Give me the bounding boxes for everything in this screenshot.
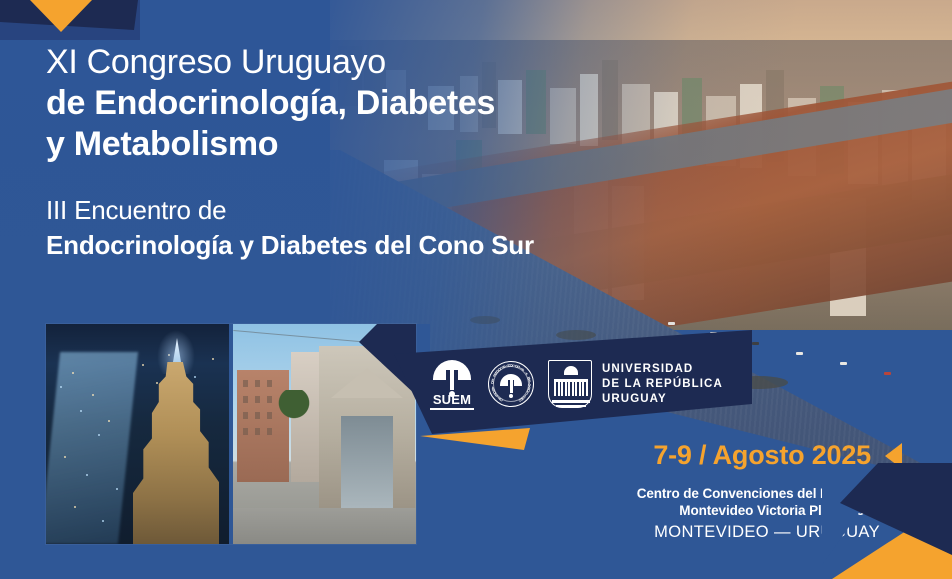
udelar-shield-icon <box>548 360 592 408</box>
shield-columns <box>554 382 588 396</box>
shield-base-lower <box>556 405 586 407</box>
title-line-3: y Metabolismo <box>46 124 686 165</box>
udelar-line-2: DE LA REPÚBLICA <box>602 377 723 392</box>
suem-acronym: SUEM <box>430 392 474 410</box>
udelar-line-1: UNIVERSIDAD <box>602 362 723 377</box>
title-line-2: de Endocrinología, Diabetes <box>46 83 686 124</box>
photo-puerta-ciudadela <box>233 324 416 544</box>
photo-palacio-salvo <box>46 324 229 544</box>
date-text: 7-9 / Agosto 2025 <box>653 440 871 471</box>
udelar-logo: UNIVERSIDAD DE LA REPÚBLICA URUGUAY <box>548 360 723 408</box>
sponsor-logos: SUEM CÁTEDRA DE ENDOCRINOLOGÍA Y METABOL… <box>430 358 723 410</box>
suem-logo: SUEM <box>430 358 474 410</box>
subtitle-line-2: Endocrinología y Diabetes del Cono Sur <box>46 228 726 262</box>
subtitle-line-1: III Encuentro de <box>46 192 726 228</box>
plaza-ground <box>233 508 416 544</box>
seal-circular-text: CÁTEDRA DE ENDOCRINOLOGÍA Y METABOLISMO <box>488 361 534 407</box>
shield-base <box>552 400 590 403</box>
conference-poster: XI Congreso Uruguayo de Endocrinología, … <box>0 0 952 579</box>
suem-stem <box>450 368 454 390</box>
udelar-line-3: URUGUAY <box>602 392 723 407</box>
udelar-wordmark: UNIVERSIDAD DE LA REPÚBLICA URUGUAY <box>602 362 723 407</box>
bottom-blue-strip <box>0 548 952 579</box>
palm-tree-icon <box>277 390 311 436</box>
page-title: XI Congreso Uruguayo de Endocrinología, … <box>46 42 686 165</box>
title-line-1: XI Congreso Uruguayo <box>46 42 686 83</box>
event-dates: 7-9 / Agosto 2025 <box>653 440 902 471</box>
subtitle: III Encuentro de Endocrinología y Diabet… <box>46 192 726 262</box>
gate-opening <box>341 416 393 508</box>
photo-collage <box>46 324 416 544</box>
catedra-seal-logo: CÁTEDRA DE ENDOCRINOLOGÍA Y METABOLISMO <box>488 361 534 407</box>
